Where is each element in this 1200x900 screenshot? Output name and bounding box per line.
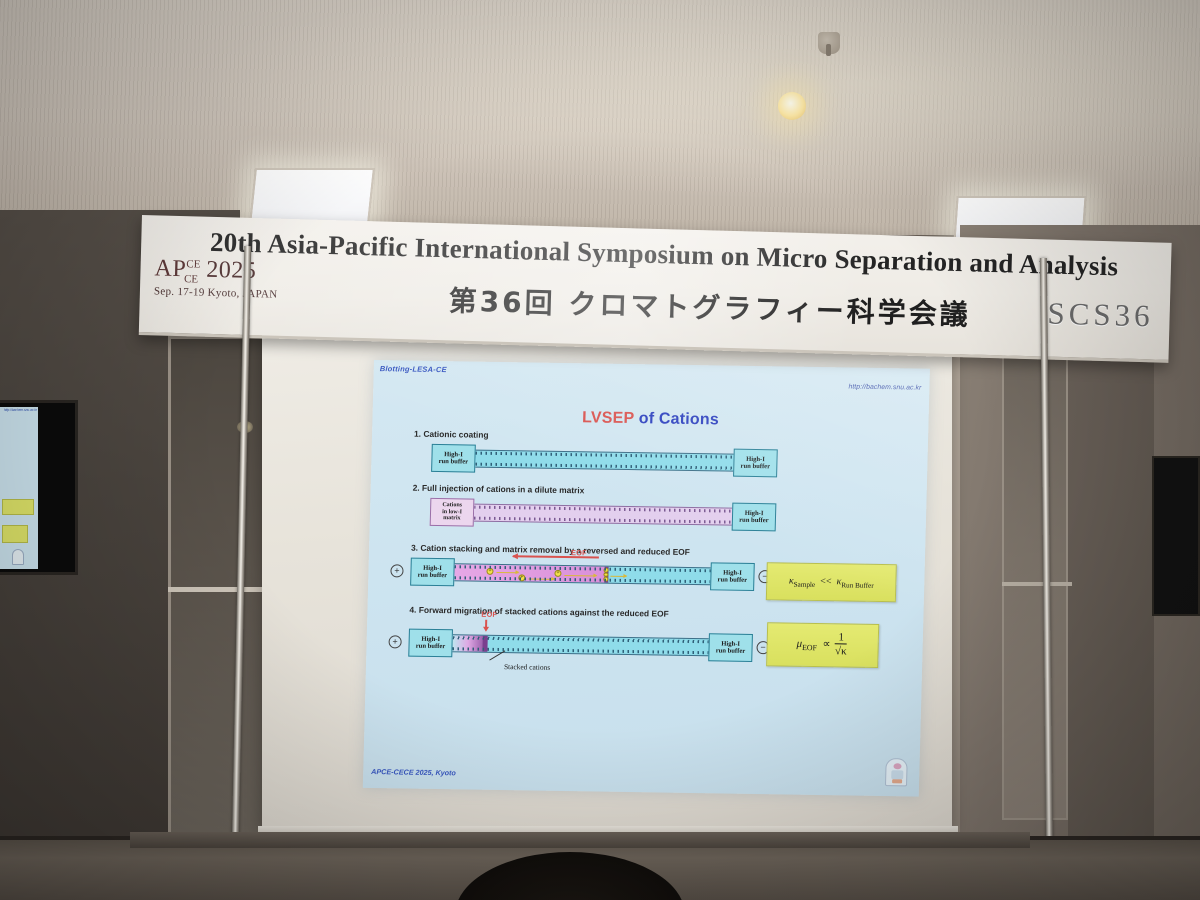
mini-url-text: http://bachem.snu.ac.kr: [4, 408, 37, 412]
step-1-label: 1. Cationic coating: [414, 429, 844, 446]
logo-body: [891, 770, 903, 779]
proportional-operator: ∝: [822, 639, 830, 651]
door-recess-right: [1002, 350, 1068, 820]
vial-line3: matrix: [443, 515, 461, 522]
mu-eof-subscript: EOF: [802, 643, 817, 652]
step-3-right-vial: High-I run buffer: [710, 562, 755, 591]
step-2-label: 2. Full injection of cations in a dilute…: [413, 483, 843, 500]
mini-equation-box-2: [2, 525, 28, 543]
step-3-eof-arrow-icon: [513, 555, 599, 558]
step-3-capillary: + + +: [454, 563, 710, 585]
capillary-wall-bottom: [475, 463, 733, 470]
apce-logo-sup: CE: [186, 258, 200, 270]
capillary-wall-top: [453, 636, 709, 643]
step-2: 2. Full injection of cations in a dilute…: [412, 483, 843, 535]
apce-logo: APCECE2025 Sep. 17-19 Kyoto, JAPAN: [154, 255, 279, 300]
fraction-denominator: √κ: [835, 644, 847, 658]
slide-title-cations: Cations: [659, 410, 720, 428]
migration-arrow-icon: [610, 576, 626, 577]
step-1-capillary: [475, 450, 733, 472]
step-4-eof-label: EOF: [481, 610, 497, 619]
step-4-eof-arrow-icon: [485, 620, 487, 628]
side-monitor-slide-mirror: http://bachem.snu.ac.kr: [0, 407, 38, 569]
vial-line2: run buffer: [418, 572, 448, 580]
kappa-runbuffer-subscript: Run Buffer: [841, 581, 874, 590]
slide-url-text: http://bachem.snu.ac.kr: [848, 383, 921, 391]
vial-line2: run buffer: [416, 643, 446, 651]
apce-logo-sub: CE: [184, 273, 198, 285]
anode-icon: +: [388, 635, 401, 648]
step-1: 1. Cationic coating High-I run buffer Hi…: [413, 429, 844, 481]
side-monitor-left: http://bachem.snu.ac.kr: [0, 400, 78, 575]
capillary-wall-bottom: [452, 647, 708, 654]
scs-logo: SCS36: [1047, 296, 1154, 335]
presentation-slide: Blotting-LESA-CE http://bachem.snu.ac.kr…: [363, 360, 930, 797]
ceiling-speaker-icon: [818, 32, 840, 54]
step-2-left-vial: Cations in low-I matrix: [430, 498, 475, 527]
step-2-right-vial: High-I run buffer: [732, 503, 777, 532]
step-1-right-vial: High-I run buffer: [733, 449, 778, 478]
step-4-capillary: [452, 634, 708, 656]
logo-base: [892, 779, 902, 783]
ceiling-downlight-icon: [778, 92, 806, 120]
capillary-wall-bottom: [474, 517, 732, 524]
step-3-left-vial: High-I run buffer: [410, 558, 455, 587]
step-3-label: 3. Cation stacking and matrix removal by…: [411, 543, 831, 560]
slide-section-tag: Blotting-LESA-CE: [380, 364, 447, 374]
stacked-cations-callout: Stacked cations: [504, 662, 550, 672]
wall-baseboard: [130, 832, 1030, 848]
fraction: 1 √κ: [835, 633, 847, 658]
step-4: 4. Forward migration of stacked cations …: [388, 604, 829, 665]
mini-lab-logo-icon: [12, 549, 24, 565]
step-4-label: 4. Forward migration of stacked cations …: [409, 605, 829, 622]
logo-head: [893, 763, 901, 769]
step-4-left-vial: High-I run buffer: [408, 629, 453, 658]
slide-title-lvsep: LVSEP: [582, 409, 634, 427]
banner-title-japanese: 第36回 クロマトグラフィー科学会議: [349, 277, 1070, 336]
capillary-wall-top: [474, 506, 732, 513]
much-less-than-operator: <<: [820, 576, 832, 587]
vial-line2: run buffer: [439, 458, 469, 466]
slide-title-of: of: [634, 410, 659, 427]
kappa-sample-subscript: Sample: [794, 580, 816, 588]
step-4-right-vial: High-I run buffer: [708, 633, 753, 662]
equation-eof-text: μEOF ∝ 1 √κ: [796, 632, 849, 658]
apce-logo-dates: Sep. 17-19 Kyoto, JAPAN: [154, 285, 278, 300]
ceiling-light-panel-left: [249, 168, 375, 224]
mullion: [1002, 582, 1072, 586]
equation-box-conductivity: κSample << κRun Buffer: [766, 562, 897, 602]
apce-logo-ap: AP: [154, 255, 186, 282]
equation-conductivity-text: κSample << κRun Buffer: [789, 575, 874, 589]
vial-line2: run buffer: [717, 576, 747, 584]
vial-line2: run buffer: [716, 647, 746, 655]
wall-column-right: [1068, 340, 1154, 900]
step-3: 3. Cation stacking and matrix removal by…: [390, 542, 831, 594]
vial-line2: run buffer: [740, 463, 770, 471]
anode-icon: +: [390, 564, 403, 577]
vial-line2: run buffer: [739, 517, 769, 525]
callout-text: Stacked cations: [504, 662, 550, 672]
slide-footer: APCE-CECE 2025, Kyoto: [371, 767, 456, 777]
lab-logo-icon: [885, 758, 908, 786]
equation-box-eof-mobility: μEOF ∝ 1 √κ: [766, 622, 879, 668]
side-monitor-right: [1152, 456, 1200, 616]
fraction-numerator: 1: [838, 633, 844, 644]
step-1-left-vial: High-I run buffer: [431, 444, 476, 473]
step-2-capillary: [474, 504, 732, 526]
mini-equation-box-1: [2, 499, 34, 515]
lecture-room-photo: http://bachem.snu.ac.kr Blotting-LESA-CE…: [0, 0, 1200, 900]
capillary-wall-top: [476, 452, 734, 459]
apce-logo-mark: APCECE2025: [154, 255, 278, 287]
